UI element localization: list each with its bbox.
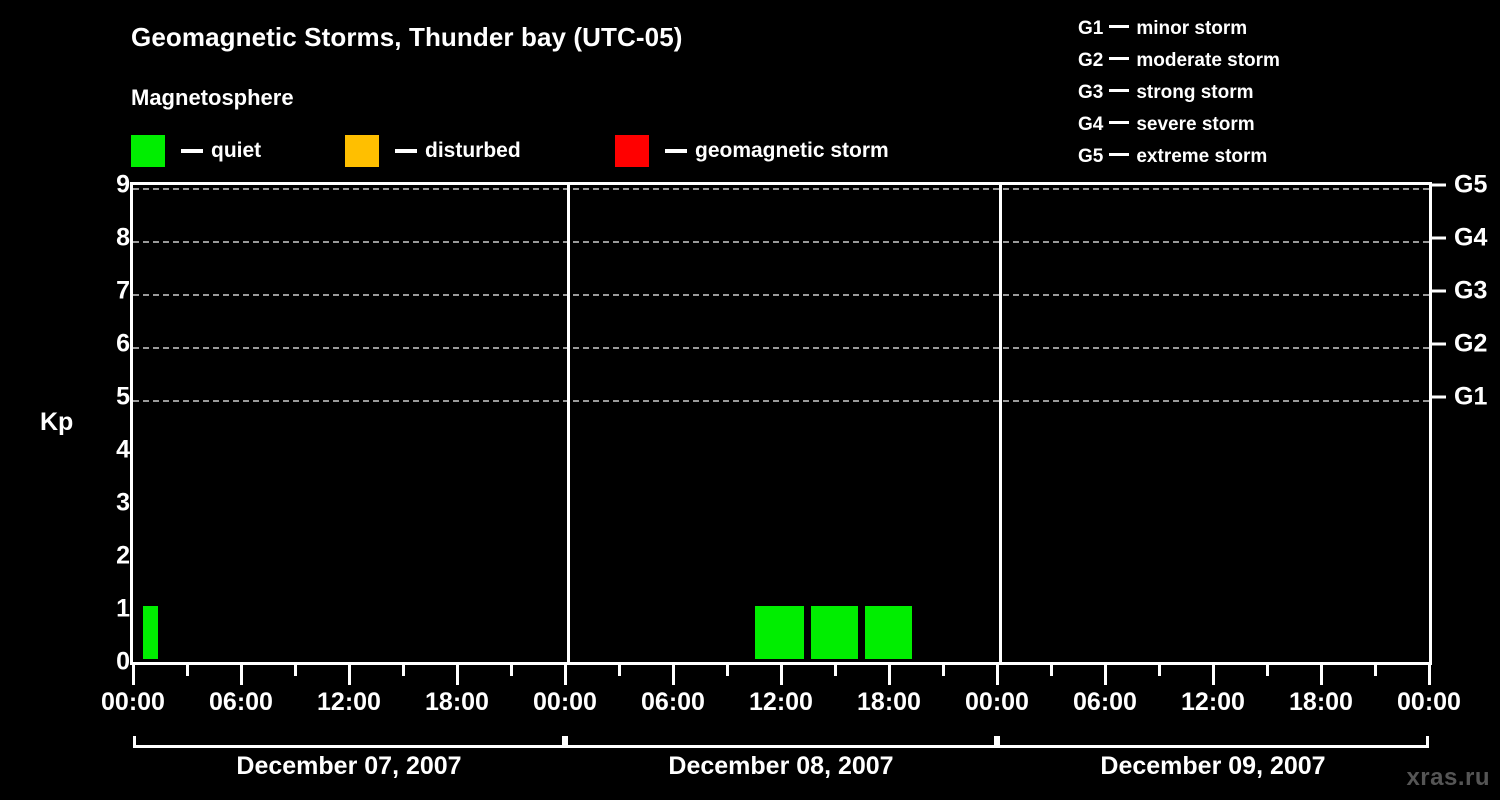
page-title: Geomagnetic Storms, Thunder bay (UTC-05) [131,22,683,53]
time-tick-minor [1374,665,1377,676]
kp-tick-8: 8 [86,224,130,253]
g-scale-dash-icon [1109,121,1129,124]
g-scale-dash-icon [1109,89,1129,92]
time-tick-minor [834,665,837,676]
geomagnetic-storm-chart: Geomagnetic Storms, Thunder bay (UTC-05)… [0,0,1500,800]
g-scale-dash-icon [1109,153,1129,156]
time-label: 00:00 [1397,688,1461,717]
time-tick-minor [726,665,729,676]
plot-area [130,182,1432,665]
g-scale-line-g5: G5extreme storm [1078,141,1280,173]
legend-label: geomagnetic storm [695,139,889,163]
g-scale-line-g3: G3strong storm [1078,77,1280,109]
day-band [130,736,1432,748]
time-tick-minor [1050,665,1053,676]
time-label: 18:00 [425,688,489,717]
kp-tick-2: 2 [86,542,130,571]
kp-tick-5: 5 [86,383,130,412]
time-tick-minor [510,665,513,676]
day-label: December 08, 2007 [668,752,893,781]
time-label: 12:00 [317,688,381,717]
time-tick-major [1428,665,1431,685]
g-tick-mark [1432,184,1446,187]
g-axis: G1G2G3G4G5 [1432,182,1500,665]
g-tick-mark [1432,343,1446,346]
g-tick-g4: G4 [1454,224,1500,253]
g-scale-line-g2: G2moderate storm [1078,45,1280,77]
legend-swatch-disturbed [345,135,379,167]
time-tick-major [240,665,243,685]
g-scale-code: G4 [1078,114,1103,135]
g-tick-mark [1432,290,1446,293]
kp-bar [865,606,912,659]
time-tick-minor [186,665,189,676]
legend-swatch-geomagnetic-storm [615,135,649,167]
g-scale-description: moderate storm [1136,50,1280,71]
time-tick-major [132,665,135,685]
g-scale-code: G2 [1078,50,1103,71]
time-tick-major [1320,665,1323,685]
gridline-kp-7 [133,294,1429,296]
kp-tick-4: 4 [86,436,130,465]
time-tick-major [672,665,675,685]
time-tick-minor [402,665,405,676]
time-tick-minor [942,665,945,676]
g-tick-mark [1432,396,1446,399]
legend-label: disturbed [425,139,521,163]
time-tick-major [348,665,351,685]
kp-axis-label: Kp [40,408,73,437]
g-tick-g5: G5 [1454,171,1500,200]
time-label: 18:00 [857,688,921,717]
kp-bar [143,606,158,659]
day-band-segment [133,736,565,748]
watermark: xras.ru [1406,764,1490,792]
legend-dash-icon [665,149,687,153]
gridline-kp-9 [133,188,1429,190]
g-scale-line-g4: G4severe storm [1078,109,1280,141]
day-separator [999,185,1002,662]
g-scale-description: strong storm [1136,82,1253,103]
time-axis [130,665,1432,687]
time-tick-major [888,665,891,685]
gridline-kp-5 [133,400,1429,402]
time-tick-minor [294,665,297,676]
g-scale-description: severe storm [1136,114,1254,135]
g-scale-code: G1 [1078,18,1103,39]
legend-dash-icon [181,149,203,153]
g-tick-g2: G2 [1454,330,1500,359]
g-scale-description: minor storm [1136,18,1247,39]
legend-item-geomagnetic-storm: geomagnetic storm [615,134,889,168]
g-scale-dash-icon [1109,57,1129,60]
time-label: 06:00 [641,688,705,717]
day-label: December 09, 2007 [1100,752,1325,781]
time-label: 12:00 [1181,688,1245,717]
day-label: December 07, 2007 [236,752,461,781]
kp-tick-3: 3 [86,489,130,518]
legend-item-disturbed: disturbed [345,134,521,168]
time-label: 06:00 [209,688,273,717]
gridline-kp-8 [133,241,1429,243]
day-band-segment [997,736,1429,748]
day-separator [567,185,570,662]
time-label: 00:00 [965,688,1029,717]
kp-tick-0: 0 [86,648,130,677]
legend-dash-icon [395,149,417,153]
kp-tick-9: 9 [86,171,130,200]
time-tick-minor [1266,665,1269,676]
legend-swatch-quiet [131,135,165,167]
time-tick-major [1212,665,1215,685]
g-scale-legend: G1minor stormG2moderate stormG3strong st… [1078,13,1280,173]
kp-tick-7: 7 [86,277,130,306]
kp-tick-6: 6 [86,330,130,359]
legend-item-quiet: quiet [131,134,261,168]
g-scale-line-g1: G1minor storm [1078,13,1280,45]
time-tick-minor [618,665,621,676]
g-scale-code: G5 [1078,146,1103,167]
kp-bar [755,606,804,659]
gridline-kp-6 [133,347,1429,349]
time-label: 18:00 [1289,688,1353,717]
time-tick-major [1104,665,1107,685]
kp-tick-1: 1 [86,595,130,624]
time-tick-major [780,665,783,685]
g-tick-mark [1432,237,1446,240]
day-band-segment [565,736,997,748]
chart-subtitle: Magnetosphere [131,85,294,111]
time-tick-major [564,665,567,685]
legend-label: quiet [211,139,261,163]
time-tick-minor [1158,665,1161,676]
g-scale-description: extreme storm [1136,146,1267,167]
time-label: 00:00 [101,688,165,717]
g-scale-dash-icon [1109,25,1129,28]
g-tick-g3: G3 [1454,277,1500,306]
time-label: 12:00 [749,688,813,717]
time-tick-major [456,665,459,685]
g-tick-g1: G1 [1454,383,1500,412]
time-tick-major [996,665,999,685]
kp-bar [811,606,858,659]
g-scale-code: G3 [1078,82,1103,103]
time-label: 06:00 [1073,688,1137,717]
time-label: 00:00 [533,688,597,717]
